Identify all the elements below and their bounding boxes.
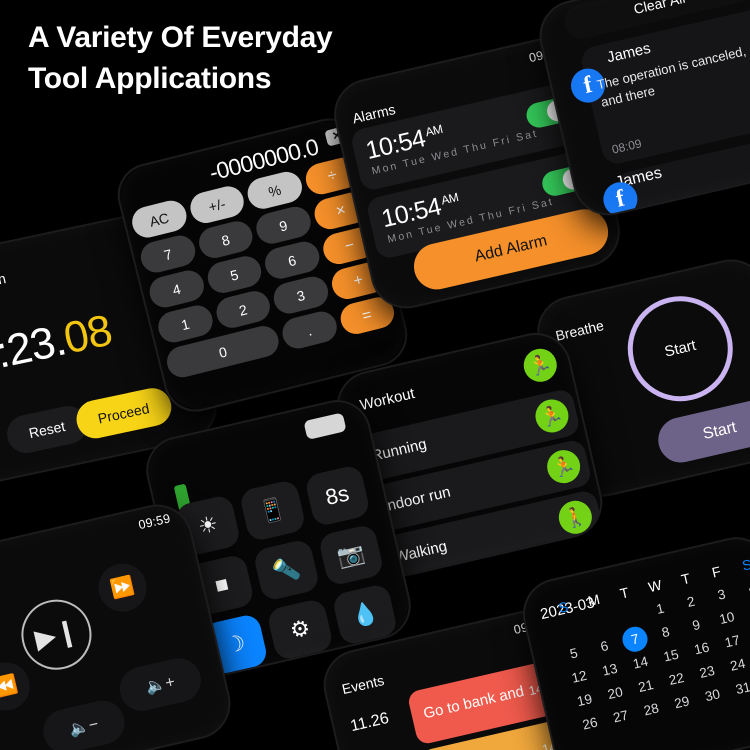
workout-item-label: Indoor run [382, 483, 452, 515]
calendar-day[interactable]: 6 [587, 635, 621, 657]
calendar-day-empty [613, 605, 647, 627]
calculator-key-3[interactable]: 3 [270, 274, 330, 317]
play-pause-button[interactable]: ▶❙ [14, 593, 98, 677]
calculator-key-5[interactable]: 5 [204, 253, 264, 296]
calendar-day-empty [551, 619, 585, 641]
proceed-button[interactable]: Proceed [73, 385, 175, 442]
calendar-day[interactable]: 19 [568, 689, 602, 711]
workout-title: Workout [358, 385, 416, 414]
calendar-day[interactable]: 5 [557, 643, 591, 665]
calendar-weekday: W [637, 573, 672, 600]
settings-icon[interactable]: ⚙ [266, 598, 334, 662]
previous-track-button[interactable]: ⏪ [0, 658, 35, 716]
next-track-button[interactable]: ⏩ [94, 559, 152, 617]
page-title: A Variety Of Everyday Tool Applications [28, 18, 332, 99]
calendar-weekday: T [668, 566, 703, 593]
calendar-weekday: S [546, 594, 581, 621]
notification-sender: James [605, 40, 652, 67]
runner-icon: 🏃 [532, 396, 572, 436]
events-date: 11.26 [349, 710, 391, 736]
calculator-key-7[interactable]: 7 [138, 232, 198, 275]
calendar-day-empty [582, 612, 616, 634]
calendar-day[interactable]: 29 [665, 691, 699, 713]
events-title: Events [340, 672, 385, 697]
music-clock: 09:59 [137, 511, 172, 532]
camera-remote-icon[interactable]: 📷 [317, 523, 385, 587]
calculator-key-9[interactable]: 9 [253, 204, 313, 247]
calendar-day[interactable]: 8 [649, 621, 683, 643]
calendar-day[interactable]: 7 [618, 628, 652, 650]
screenshot-stage: A Variety Of Everyday Tool Applications … [0, 0, 750, 750]
calendar-day[interactable]: 17 [715, 631, 749, 653]
breathe-ring[interactable]: Start [617, 286, 743, 412]
calendar-day[interactable]: 26 [573, 713, 607, 735]
headline-line-2: Tool Applications [28, 59, 332, 100]
watch-8s-icon[interactable]: 8s [304, 464, 372, 528]
stopwatch-title: Stopwatch [0, 270, 7, 299]
runner-icon: 🏃 [544, 447, 584, 487]
calendar-weekday: S [729, 551, 750, 578]
calendar-day[interactable]: 27 [604, 706, 638, 728]
calculator-key-2[interactable]: 2 [213, 288, 273, 331]
calendar-weekday: T [607, 580, 642, 607]
notification-time: 08:09 [610, 136, 642, 156]
calculator-key-8[interactable]: 8 [195, 218, 255, 261]
calendar-day[interactable]: 2 [674, 591, 708, 613]
calendar-day[interactable]: 28 [634, 699, 668, 721]
flashlight-icon[interactable]: 🔦 [253, 538, 321, 602]
calendar-day[interactable]: 13 [593, 659, 627, 681]
calendar-day[interactable]: 1 [643, 598, 677, 620]
calculator-key-6[interactable]: 6 [262, 239, 322, 282]
stopwatch-time-main: 00:23. [0, 315, 70, 387]
calculator-key-[interactable]: . [279, 308, 339, 351]
calendar-day[interactable]: 20 [598, 682, 632, 704]
battery-pill-icon [303, 412, 346, 440]
calendar-panel: 2023-03 SMTWTFS 123456789101112131415161… [518, 533, 750, 750]
water-lock-icon[interactable]: 💧 [331, 583, 399, 647]
breathe-start-button[interactable]: Start [654, 395, 750, 467]
headline-line-1: A Variety Of Everyday [28, 18, 332, 59]
calendar-day[interactable]: 21 [629, 675, 663, 697]
calendar-day[interactable]: 12 [562, 666, 596, 688]
calendar-day[interactable]: 30 [696, 684, 730, 706]
calendar-day[interactable]: 23 [690, 661, 724, 683]
calculator-key-4[interactable]: 4 [146, 267, 206, 310]
alarm-meridiem: AM [440, 190, 460, 207]
runner-icon: 🏃 [520, 346, 560, 386]
stopwatch-time-fraction: 08 [60, 306, 116, 364]
walker-icon: 🚶 [556, 498, 596, 538]
workout-item-label: Walking [393, 538, 448, 566]
calendar-weekday: M [576, 587, 611, 614]
stopwatch-time: 00:23.08 [0, 306, 116, 389]
calendar-weekday: F [699, 558, 734, 585]
find-phone-icon[interactable]: 📱 [239, 479, 307, 543]
calendar-day[interactable]: 3 [705, 584, 739, 606]
calendar-day[interactable]: 31 [726, 677, 750, 699]
calendar-day[interactable]: 14 [623, 652, 657, 674]
calendar-day[interactable]: 15 [654, 645, 688, 667]
calendar-day[interactable]: 16 [685, 638, 719, 660]
calendar-day[interactable]: 4 [735, 577, 750, 599]
calendar-day[interactable]: 22 [659, 668, 693, 690]
event-text: Go to bank and [422, 683, 526, 723]
breathe-title: Breathe [554, 317, 605, 344]
workout-item-label: Running [370, 436, 428, 465]
calendar-day[interactable]: 24 [721, 654, 750, 676]
calendar-day[interactable]: 10 [710, 607, 744, 629]
stopwatch-buttons: Reset Proceed [4, 385, 175, 457]
volume-up-button[interactable]: 🔈+ [115, 654, 205, 715]
alarm-meridiem: AM [424, 122, 444, 139]
calendar-day[interactable]: 9 [679, 614, 713, 636]
volume-down-button[interactable]: 🔈− [39, 696, 129, 750]
